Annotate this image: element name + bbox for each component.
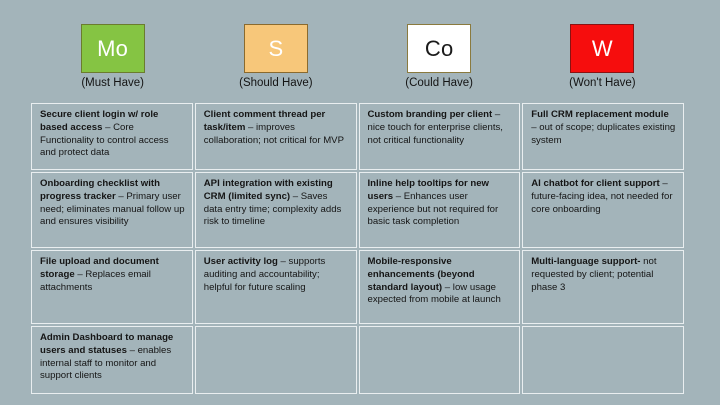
table-cell bbox=[522, 326, 684, 394]
table-cell: Mobile-responsive enhancements (beyond s… bbox=[359, 250, 521, 324]
moscow-header-row: Mo (Must Have) S (Should Have) Co (Could… bbox=[31, 24, 684, 100]
column-header-wont: W (Won't Have) bbox=[521, 24, 684, 100]
table-cell: File upload and document storage – Repla… bbox=[31, 250, 193, 324]
table-cell: User activity log – supports auditing an… bbox=[195, 250, 357, 324]
table-cell: Custom branding per client – nice touch … bbox=[359, 103, 521, 170]
table-cell: Admin Dashboard to manage users and stat… bbox=[31, 326, 193, 394]
badge-could: Co bbox=[407, 24, 471, 73]
badge-caption-wont: (Won't Have) bbox=[569, 77, 636, 90]
table-cell bbox=[359, 326, 521, 394]
table-cell: Client comment thread per task/item – im… bbox=[195, 103, 357, 170]
table-cell: Full CRM replacement module – out of sco… bbox=[522, 103, 684, 170]
badge-caption-should: (Should Have) bbox=[239, 77, 313, 90]
item-title: AI chatbot for client support bbox=[531, 178, 659, 189]
item-title: Secure client login w/ role based access bbox=[40, 109, 158, 133]
column-header-should: S (Should Have) bbox=[194, 24, 357, 100]
badge-caption-must: (Must Have) bbox=[81, 77, 144, 90]
table-cell: API integration with existing CRM (limit… bbox=[195, 172, 357, 248]
badge-should: S bbox=[244, 24, 308, 73]
column-header-must: Mo (Must Have) bbox=[31, 24, 194, 100]
badge-must: Mo bbox=[81, 24, 145, 73]
item-title: User activity log bbox=[204, 256, 278, 267]
column-header-could: Co (Could Have) bbox=[358, 24, 521, 100]
table-cell: Multi-language support- not requested by… bbox=[522, 250, 684, 324]
table-cell: AI chatbot for client support – future-f… bbox=[522, 172, 684, 248]
badge-wont: W bbox=[570, 24, 634, 73]
badge-caption-could: (Could Have) bbox=[405, 77, 473, 90]
item-detail: – out of scope; duplicates existing syst… bbox=[531, 122, 675, 146]
table-cell: Onboarding checklist with progress track… bbox=[31, 172, 193, 248]
item-title: Custom branding per client bbox=[368, 109, 493, 120]
item-title: Multi-language support- bbox=[531, 256, 640, 267]
moscow-prioritization-slide: Mo (Must Have) S (Should Have) Co (Could… bbox=[0, 0, 720, 405]
table-cell: Inline help tooltips for new users – Enh… bbox=[359, 172, 521, 248]
table-cell bbox=[195, 326, 357, 394]
item-title: Full CRM replacement module bbox=[531, 109, 669, 120]
table-cell: Secure client login w/ role based access… bbox=[31, 103, 193, 170]
moscow-grid: Secure client login w/ role based access… bbox=[31, 103, 684, 388]
